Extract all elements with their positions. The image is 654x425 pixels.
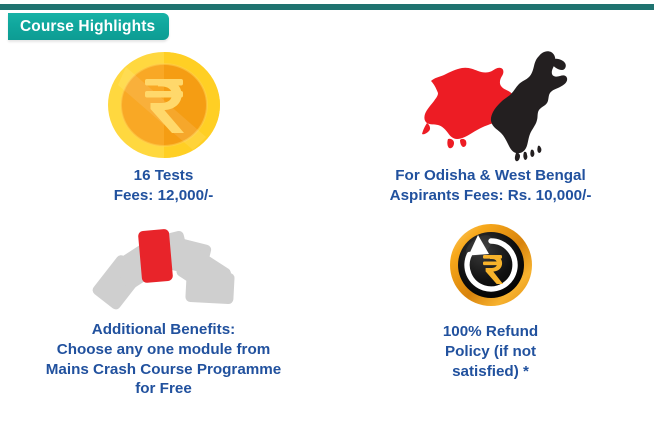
odisha-west-bengal-map-icon: [398, 46, 583, 164]
highlight-item-states: For Odisha & West Bengal Aspirants Fees:…: [327, 48, 654, 216]
highlight-caption-fees: 16 Tests Fees: 12,000/-: [114, 166, 214, 206]
highlight-icon-wrapper-modules: [88, 216, 240, 308]
highlight-icon-wrapper-refund: [448, 216, 534, 308]
highlight-icon-wrapper-states: [398, 48, 583, 160]
highlight-caption-refund: 100% Refund Policy (if not satisfied) *: [443, 322, 538, 381]
highlight-icon-wrapper-fees: [105, 48, 223, 158]
top-rule-divider: [0, 4, 654, 10]
course-highlights-badge-label: Course Highlights: [20, 18, 155, 36]
refund-badge-icon: [448, 222, 534, 308]
highlight-caption-modules: Additional Benefits: Choose any one modu…: [46, 320, 281, 399]
course-highlights-panel: Course Highlights: [0, 0, 654, 425]
highlight-item-fees: 16 Tests Fees: 12,000/-: [0, 48, 327, 216]
highlight-item-modules: Additional Benefits: Choose any one modu…: [0, 216, 327, 425]
highlight-caption-states: For Odisha & West Bengal Aspirants Fees:…: [390, 166, 592, 206]
rupee-coin-icon: [105, 49, 223, 161]
course-highlights-badge: Course Highlights: [8, 13, 169, 40]
highlight-item-refund: 100% Refund Policy (if not satisfied) *: [327, 216, 654, 425]
module-cards-fan-icon: [88, 226, 240, 310]
highlights-grid: 16 Tests Fees: 12,000/-: [0, 48, 654, 425]
